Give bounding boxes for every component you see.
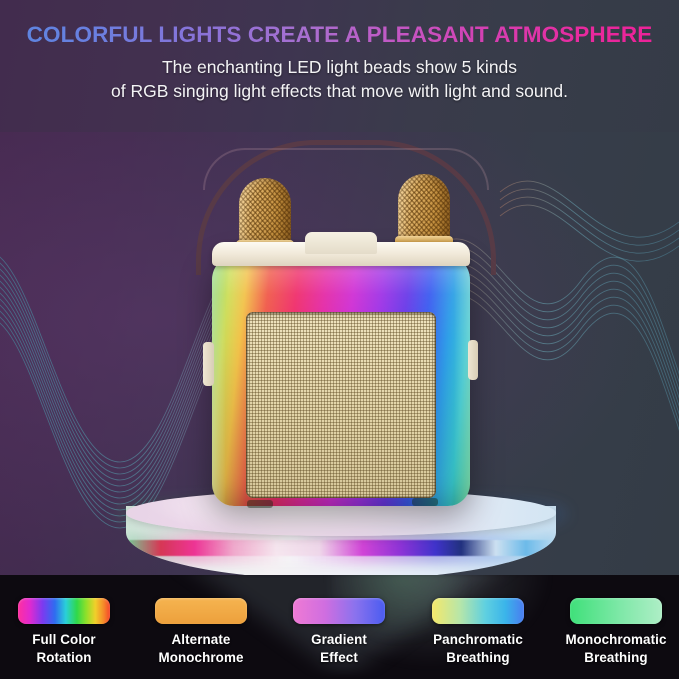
speaker-grille [246,312,436,498]
legend-label-monochromatic-breathing: Monochromatic Breathing [548,631,679,666]
full-color-rotation-swatch [18,598,110,624]
legend-item-gradient-effect: Gradient Effect [271,575,407,679]
legend-label-line2: Rotation [0,649,132,667]
legend-item-monochromatic-breathing: Monochromatic Breathing [548,575,679,679]
product-infographic: COLORFUL LIGHTS CREATE A PLEASANT ATMOSP… [0,0,679,679]
legend-label-line1: Panchromatic [433,632,523,647]
header-text-panel: COLORFUL LIGHTS CREATE A PLEASANT ATMOSP… [0,0,679,132]
legend-label-line2: Effect [271,649,407,667]
legend-items: Full Color Rotation Alternate Monochrome… [0,575,679,679]
legend-label-gradient-effect: Gradient Effect [271,631,407,666]
speaker-side-button-right [468,340,478,380]
legend-label-line2: Breathing [548,649,679,667]
product-photo [0,132,679,575]
subtitle-line-1: The enchanting LED light beads show 5 ki… [0,57,679,78]
legend-label-line2: Monochrome [133,649,269,667]
legend-label-line1: Alternate [172,632,231,647]
monochromatic-breathing-swatch [570,598,662,624]
legend-item-full-color-rotation: Full Color Rotation [0,575,132,679]
speaker-foot-left [247,500,273,508]
mic-head-mesh [239,178,291,244]
speaker-right-edge-highlight [454,254,470,506]
subtitle-line-2: of RGB singing light effects that move w… [0,81,679,102]
mic-head-mesh [398,174,450,240]
legend-label-line1: Full Color [32,632,95,647]
alternate-monochrome-swatch [155,598,247,624]
speaker-left-edge-highlight [212,254,226,506]
legend-label-line1: Gradient [311,632,367,647]
speaker-top-nub [305,232,377,254]
speaker-foot-right [412,498,438,506]
legend-item-alternate-monochrome: Alternate Monochrome [133,575,269,679]
light-mode-legend: Full Color Rotation Alternate Monochrome… [0,575,679,679]
legend-label-line1: Monochromatic [566,632,667,647]
pedestal-rgb-ring [126,540,556,556]
panchromatic-breathing-swatch [432,598,524,624]
legend-label-full-color-rotation: Full Color Rotation [0,631,132,666]
legend-item-panchromatic-breathing: Panchromatic Breathing [410,575,546,679]
legend-label-panchromatic-breathing: Panchromatic Breathing [410,631,546,666]
legend-label-alternate-monochrome: Alternate Monochrome [133,631,269,666]
gradient-effect-swatch [293,598,385,624]
legend-label-line2: Breathing [410,649,546,667]
page-title: COLORFUL LIGHTS CREATE A PLEASANT ATMOSP… [0,22,679,48]
speaker-side-button-left [203,342,214,386]
